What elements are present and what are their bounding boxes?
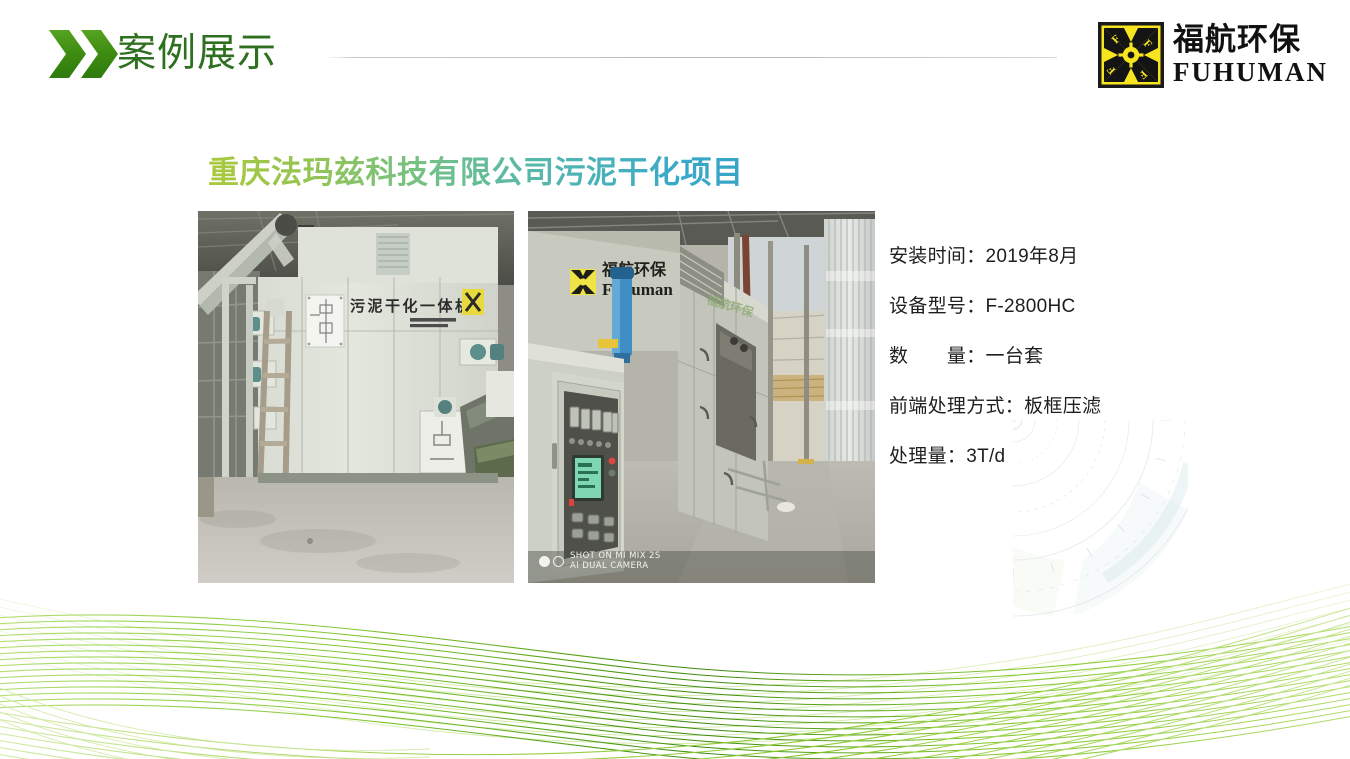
camera-lens-dots-icon	[539, 556, 564, 567]
spec-row-model: 设备型号：F-2800HC	[889, 295, 1189, 319]
project-title: 重庆法玛兹科技有限公司污泥干化项目	[208, 147, 744, 192]
spec-label-install-time: 安装时间：	[889, 246, 986, 267]
page-title: 案例展示	[117, 28, 277, 80]
brand-name-cn: 福航环保	[1173, 25, 1328, 56]
spec-label-capacity: 处理量：	[889, 446, 966, 467]
spec-row-capacity: 处理量：3T/d	[889, 445, 1189, 469]
spec-row-quantity: 数 量：一台套	[889, 345, 1189, 369]
watermark-line-2: AI DUAL CAMERA	[570, 561, 661, 571]
spec-value-pretreatment: 板框压滤	[1024, 396, 1101, 417]
photo-sludge-drying-machine-exterior: 污泥干化一体机	[198, 211, 514, 583]
photo-control-cabinet-and-equipment-row: 福航环保 福航环保 Fuhuman	[528, 211, 875, 583]
spec-row-install-time: 安装时间：2019年8月	[889, 245, 1189, 269]
slide-root: 案例展示 F F F F	[0, 0, 1350, 759]
spec-value-quantity: 一台套	[986, 346, 1044, 367]
watermark-line-1: SHOT ON MI MIX 2S	[570, 551, 661, 561]
spec-label-quantity: 数 量：	[889, 346, 986, 367]
spec-value-install-time: 2019年8月	[986, 246, 1079, 267]
spec-label-model: 设备型号：	[889, 296, 986, 317]
brand-name-en: FUHUMAN	[1173, 59, 1328, 86]
spec-row-pretreatment: 前端处理方式：板框压滤	[889, 395, 1189, 419]
green-ribbon-wave-graphic	[0, 559, 1350, 759]
svg-text:污泥干化一体机: 污泥干化一体机	[350, 297, 473, 315]
spec-value-capacity: 3T/d	[966, 446, 1005, 467]
spec-label-pretreatment: 前端处理方式：	[889, 396, 1024, 417]
header-divider-rule	[325, 57, 1057, 58]
photo-watermark-caption: SHOT ON MI MIX 2S AI DUAL CAMERA	[539, 551, 661, 571]
brand-logo: F F F F 福航环保 FUHUMAN	[1098, 22, 1328, 88]
project-spec-list: 安装时间：2019年8月 设备型号：F-2800HC 数 量：一台套 前端处理方…	[889, 245, 1189, 469]
double-chevron-right-icon	[48, 28, 120, 80]
brand-wordmark: 福航环保 FUHUMAN	[1173, 25, 1328, 86]
spec-value-model: F-2800HC	[986, 296, 1076, 317]
fuhuman-pinwheel-emblem-icon: F F F F	[1098, 22, 1164, 88]
